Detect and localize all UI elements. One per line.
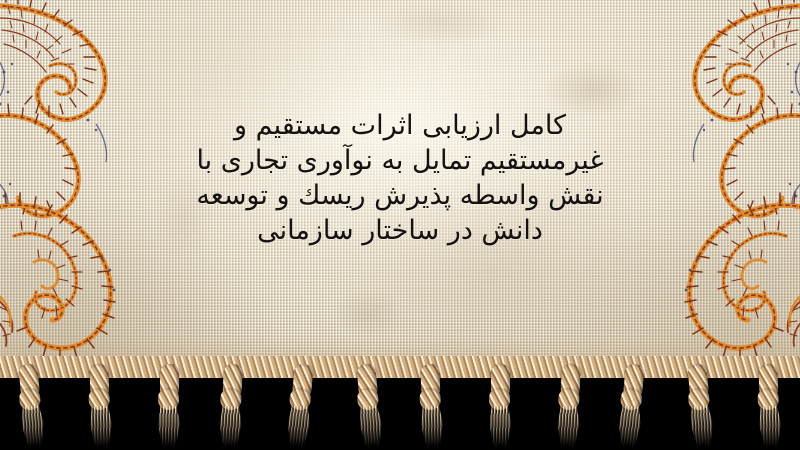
corner-ornament-right (598, 0, 800, 374)
tassel-skirt (19, 405, 47, 450)
tassel-fringe (0, 356, 800, 450)
tassel (754, 363, 784, 450)
tassel (487, 364, 513, 450)
corner-ornament-left (0, 0, 202, 374)
tassel-skirt (419, 405, 445, 450)
fringe-cord (0, 356, 800, 378)
tassel-skirt (357, 405, 385, 450)
tassel (216, 363, 246, 450)
tassel (554, 363, 584, 450)
tassel-skirt (157, 406, 181, 450)
tassel (416, 363, 446, 450)
tassel-skirt (88, 405, 114, 450)
tassel (156, 364, 182, 450)
tassel-skirt (217, 405, 243, 450)
tassel-skirt (616, 405, 644, 450)
tassel-skirt (555, 405, 581, 450)
tassel-skirt (284, 405, 312, 450)
tassel-skirt (688, 405, 716, 450)
tassel-skirt (757, 405, 783, 450)
tassel (615, 363, 648, 450)
tassel (85, 363, 115, 450)
slide-canvas: کامل ارزیابی اثرات مستقیم و غیرمستقیم تم… (0, 0, 800, 450)
tassel-skirt (488, 406, 512, 450)
